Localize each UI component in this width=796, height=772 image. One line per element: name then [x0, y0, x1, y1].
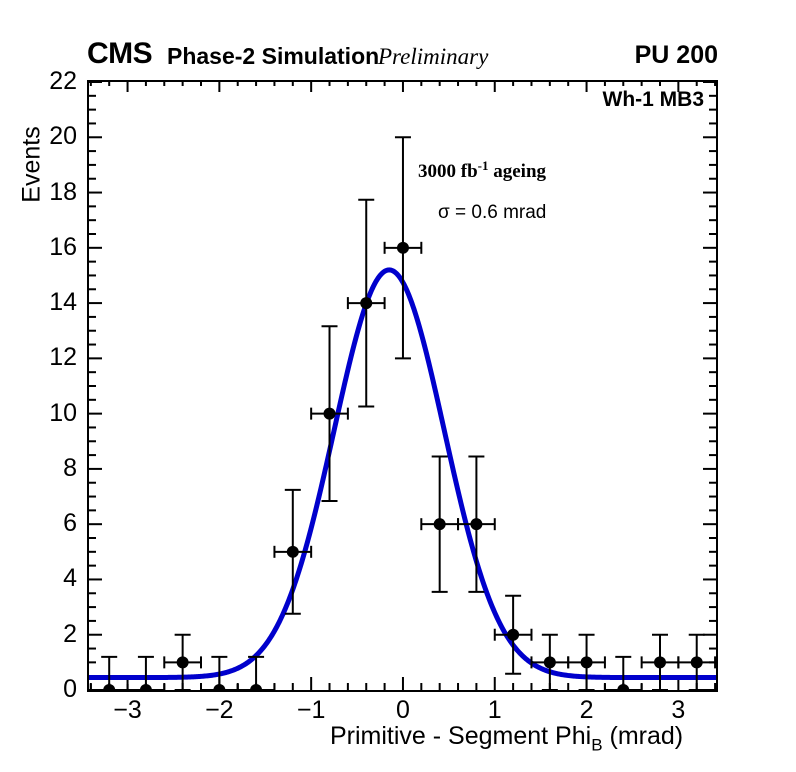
- luminosity-value: 3000 fb: [418, 161, 478, 182]
- data-point: [164, 635, 201, 690]
- data-point: [385, 137, 422, 358]
- luminosity-exponent: -1: [478, 158, 489, 173]
- data-point: [128, 657, 165, 690]
- x-tick-label: 3: [653, 698, 703, 723]
- x-tick-label: 0: [378, 698, 428, 723]
- plot-area: [89, 82, 716, 690]
- plot-frame: Wh-1 MB3: [87, 80, 718, 692]
- y-tick-label: 12: [31, 345, 77, 370]
- data-point: [678, 635, 715, 690]
- x-tick-label: 2: [562, 698, 612, 723]
- y-tick-label: 22: [31, 69, 77, 94]
- x-tick-label: −2: [194, 698, 244, 723]
- y-tick-label: 20: [31, 124, 77, 149]
- y-tick-label: 2: [31, 622, 77, 647]
- data-point: [274, 490, 311, 614]
- data-point: [311, 326, 348, 501]
- data-point: [531, 635, 568, 690]
- luminosity-annotation: 3000 fb-1 ageing: [418, 158, 546, 183]
- x-tick-label: −3: [103, 698, 153, 723]
- data-point: [642, 635, 679, 690]
- y-axis-title: Events: [18, 105, 47, 225]
- y-tick-label: 0: [31, 677, 77, 702]
- y-tick-label: 18: [31, 180, 77, 205]
- region-annotation: Wh-1 MB3: [603, 88, 705, 112]
- data-point: [458, 456, 495, 591]
- x-axis-title: Primitive - Segment PhiB (mrad): [330, 722, 683, 755]
- x-tick-label: −1: [286, 698, 336, 723]
- data-point: [568, 635, 605, 690]
- y-tick-label: 16: [31, 235, 77, 260]
- header: CMS Phase-2 Simulation Preliminary PU 20…: [0, 38, 796, 70]
- pileup-label: PU 200: [635, 40, 718, 70]
- data-point: [605, 657, 642, 690]
- y-tick-label: 14: [31, 290, 77, 315]
- y-tick-label: 6: [31, 511, 77, 536]
- data-point: [238, 657, 275, 690]
- x-tick-label: 1: [470, 698, 520, 723]
- y-tick-label: 10: [31, 401, 77, 426]
- sigma-annotation: σ = 0.6 mrad: [438, 202, 546, 224]
- luminosity-suffix: ageing: [489, 161, 547, 182]
- x-axis-title-unit: (mrad): [603, 722, 684, 750]
- data-point: [348, 200, 385, 407]
- data-point: [91, 657, 128, 690]
- data-points-layer: [91, 137, 715, 690]
- y-tick-label: 4: [31, 566, 77, 591]
- cms-logo-text: CMS: [87, 38, 152, 70]
- x-axis-title-main: Primitive - Segment Phi: [330, 722, 591, 750]
- plot-canvas: CMS Phase-2 Simulation Preliminary PU 20…: [0, 0, 796, 772]
- preliminary-label: Preliminary: [378, 43, 488, 71]
- simulation-label: Phase-2 Simulation: [167, 42, 379, 70]
- y-tick-label: 8: [31, 456, 77, 481]
- x-axis-title-subscript: B: [591, 735, 602, 754]
